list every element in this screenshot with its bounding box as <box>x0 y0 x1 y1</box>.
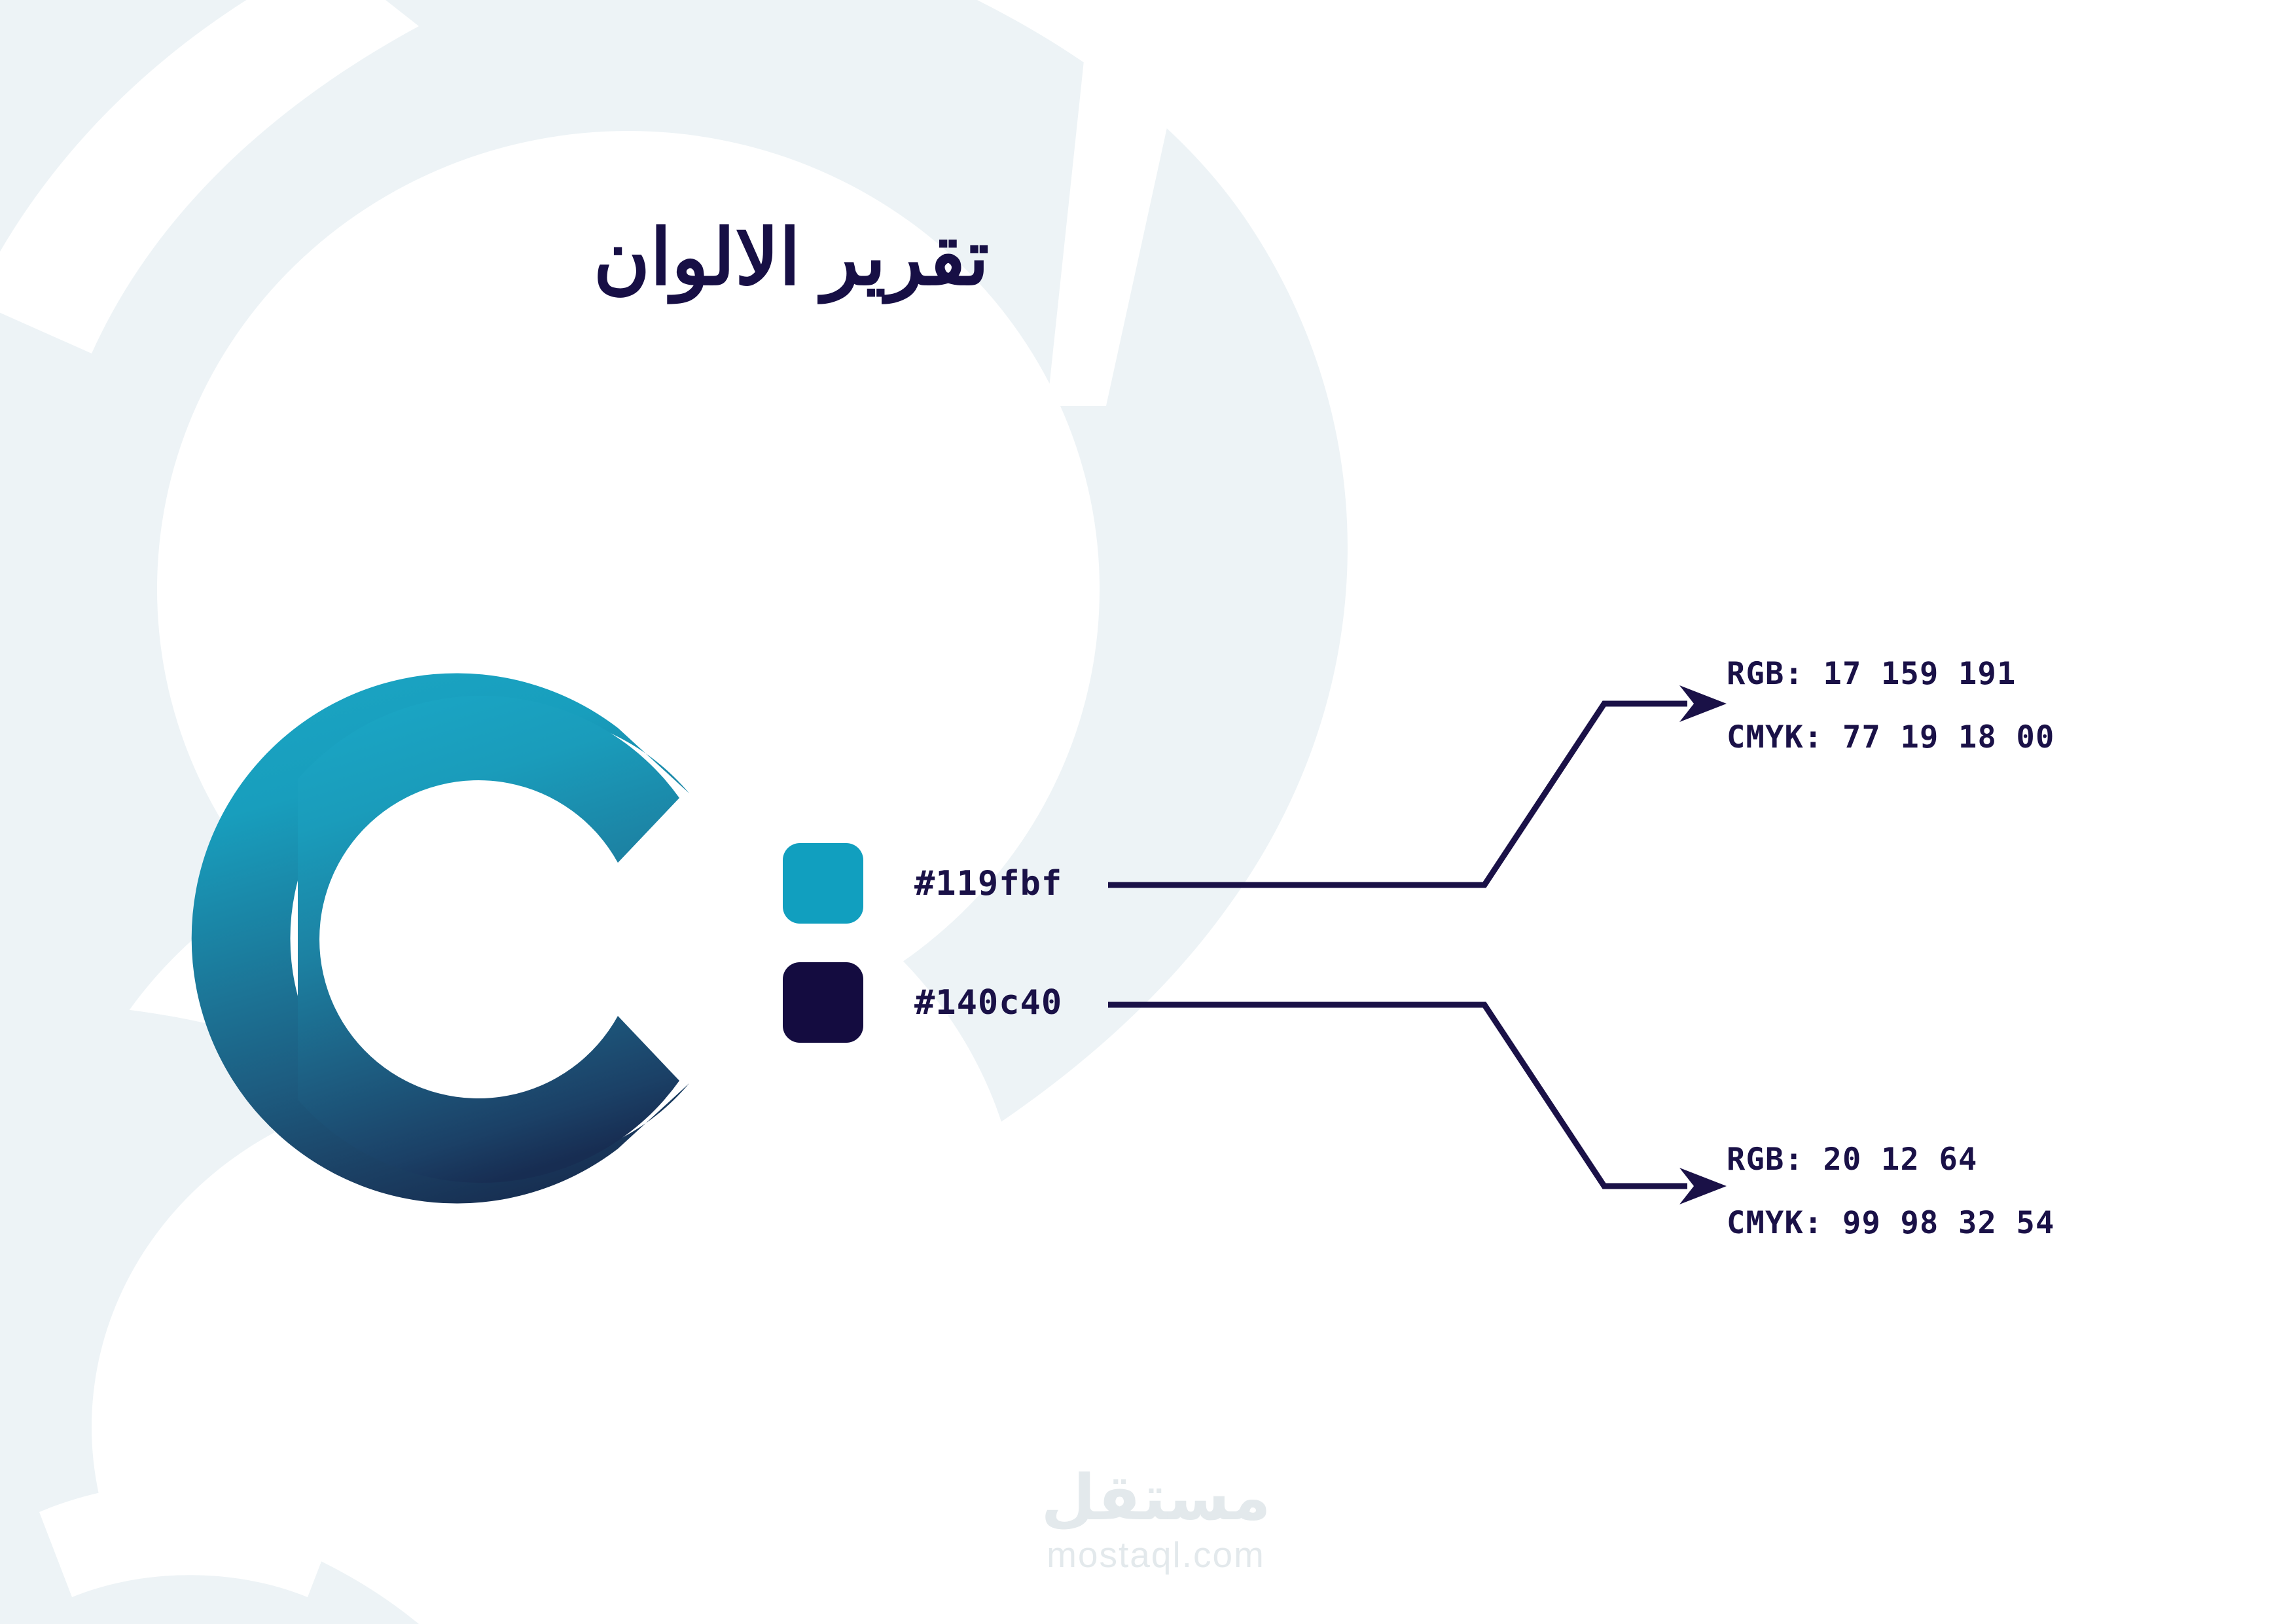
leader-lines <box>0 0 2296 1624</box>
slide-canvas: تقرير الالوان #119fbf #140c40 RGB: 17 15… <box>0 0 2296 1624</box>
leader-line-bottom <box>1108 1005 1687 1186</box>
watermark-arabic-logo: مستقل <box>992 1466 1319 1529</box>
rgb-value-secondary: RGB: 20 12 64 <box>1727 1144 2054 1175</box>
palette-row-primary: #119fbf <box>783 843 1062 924</box>
cmyk-value-secondary: CMYK: 99 98 32 54 <box>1727 1208 2054 1238</box>
cmyk-value-primary: CMYK: 77 19 18 00 <box>1727 722 2054 753</box>
leader-line-top <box>1108 704 1687 885</box>
rgb-value-primary: RGB: 17 159 191 <box>1727 659 2054 689</box>
mostaql-watermark: مستقل mostaql.com <box>992 1466 1319 1597</box>
color-hex-label-primary: #119fbf <box>914 864 1062 903</box>
color-info-primary: RGB: 17 159 191 CMYK: 77 19 18 00 <box>1727 659 2054 753</box>
color-hex-label-secondary: #140c40 <box>914 983 1062 1022</box>
color-info-secondary: RGB: 20 12 64 CMYK: 99 98 32 54 <box>1727 1144 2054 1238</box>
color-swatch-secondary[interactable] <box>783 962 863 1043</box>
palette-row-secondary: #140c40 <box>783 962 1062 1043</box>
color-swatch-primary[interactable] <box>783 843 863 924</box>
watermark-domain: mostaql.com <box>992 1537 1319 1573</box>
